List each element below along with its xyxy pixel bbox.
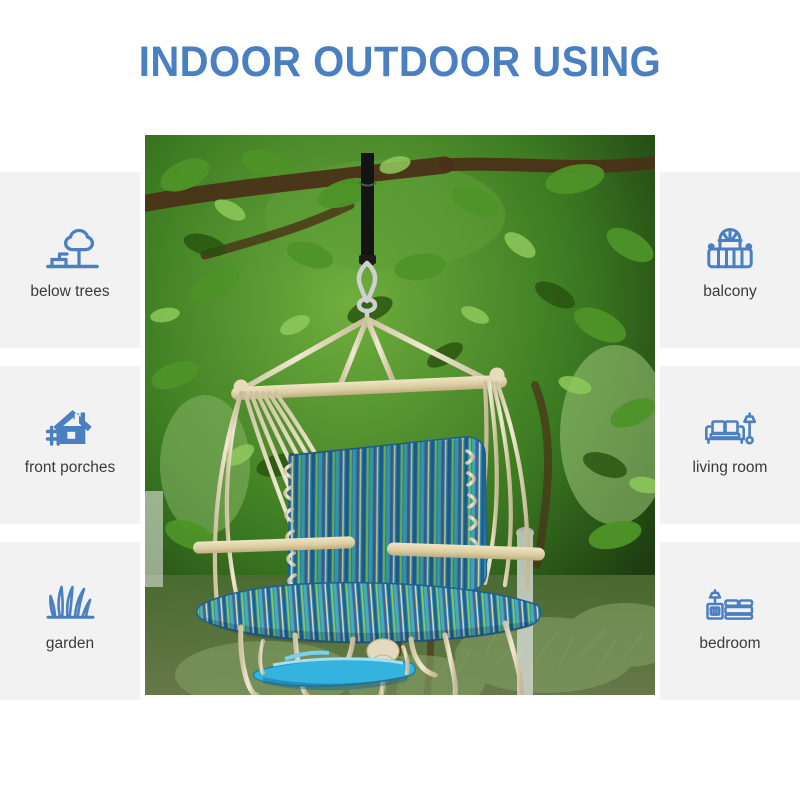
- arched-window-balcony-icon: [699, 219, 761, 275]
- feature-item-front-porches[interactable]: front porches: [0, 348, 140, 524]
- feature-label: below trees: [30, 283, 109, 300]
- feature-item-bedroom[interactable]: bedroom: [660, 524, 800, 700]
- infographic-page: INDOOR OUTDOOR USING below trees: [0, 0, 800, 800]
- left-feature-panel: below trees: [0, 172, 140, 700]
- feature-label: garden: [46, 635, 94, 652]
- feature-item-living-room[interactable]: living room: [660, 348, 800, 524]
- sofa-with-floor-lamp-icon: [699, 395, 761, 451]
- tree-with-bench-icon: [39, 219, 101, 275]
- chair-back-cushion: [285, 436, 489, 607]
- feature-label: front porches: [25, 459, 115, 476]
- grass-blades-icon: [39, 571, 101, 627]
- feature-label: bedroom: [699, 635, 760, 652]
- hammock-chair-scene: [145, 135, 655, 695]
- bed-with-nightstand-lamp-icon: [699, 571, 761, 627]
- hanging-strap: [359, 153, 376, 265]
- house-with-fence-icon: [39, 395, 101, 451]
- feature-label: living room: [693, 459, 768, 476]
- product-photo: [145, 135, 655, 695]
- feature-item-balcony[interactable]: balcony: [660, 172, 800, 348]
- feature-item-garden[interactable]: garden: [0, 524, 140, 700]
- feature-label: balcony: [703, 283, 756, 300]
- feature-item-below-trees[interactable]: below trees: [0, 172, 140, 348]
- right-feature-panel: balcony: [660, 172, 800, 700]
- page-title: INDOOR OUTDOOR USING: [28, 38, 772, 87]
